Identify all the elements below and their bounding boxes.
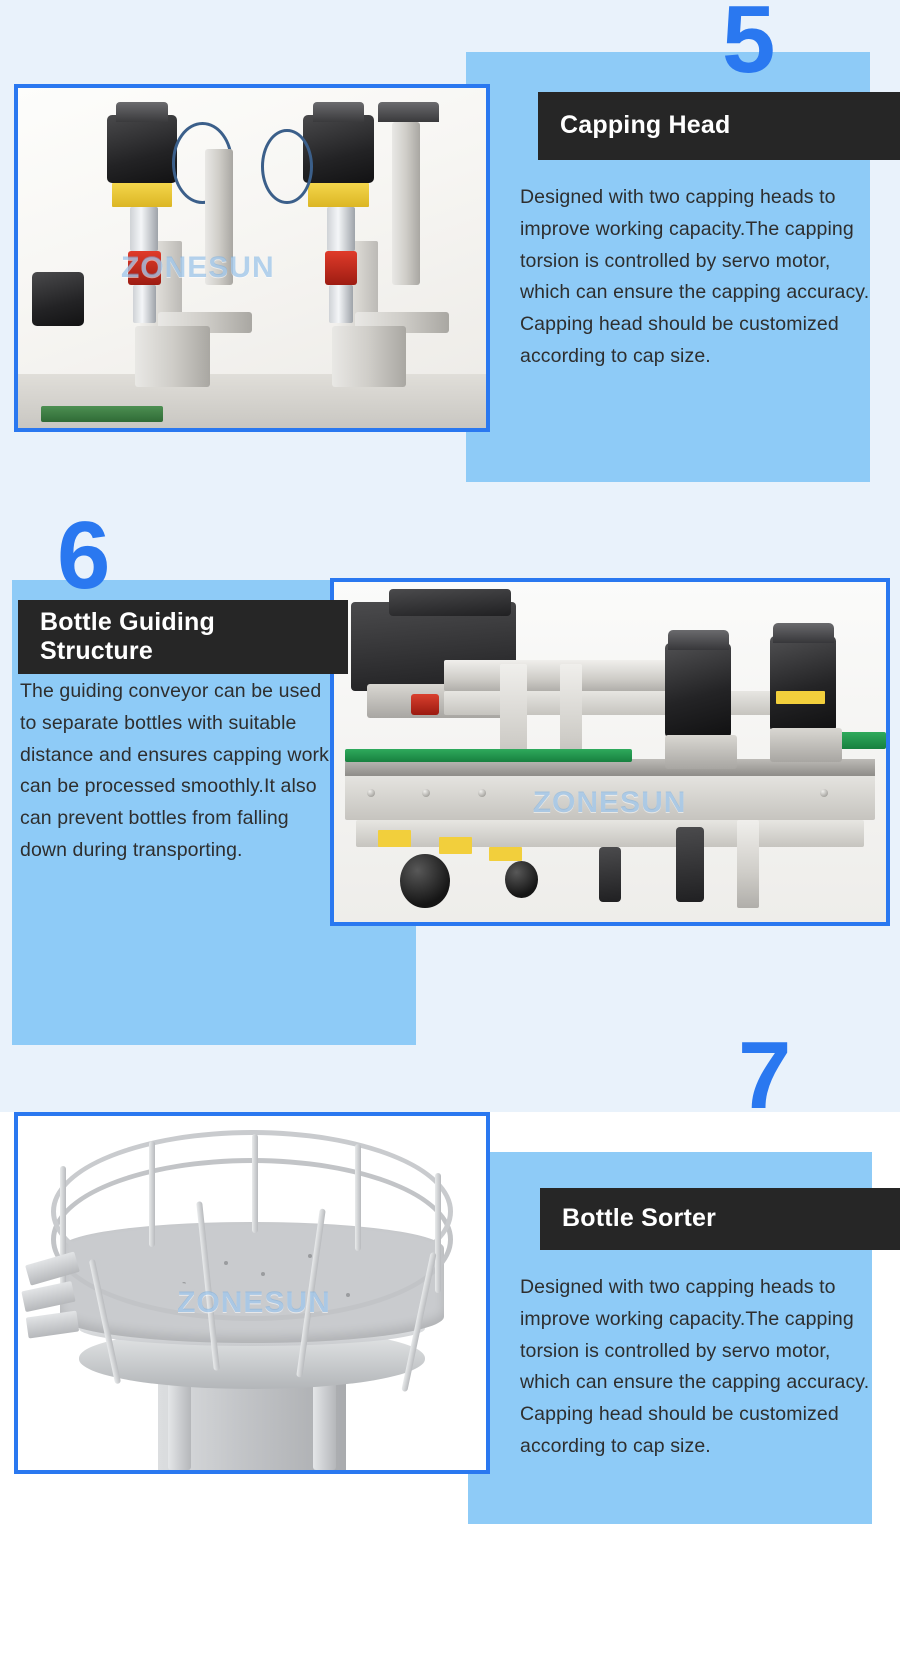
section-5-photo-frame: ZONESUN [14, 84, 490, 432]
section-6-photo-frame: ZONESUN [330, 578, 890, 926]
section-5-header-bar: Capping Head [538, 92, 900, 160]
section-5-number: 5 [722, 0, 775, 88]
bottle-sorter-photo: ZONESUN [18, 1116, 486, 1470]
section-7-header-bar: Bottle Sorter [540, 1188, 900, 1250]
section-5-body: Designed with two capping heads to impro… [520, 182, 872, 373]
section-5-title: Capping Head [538, 111, 752, 141]
section-7-number: 7 [738, 1028, 791, 1124]
capping-head-photo: ZONESUN [18, 88, 486, 428]
section-6-number: 6 [57, 508, 110, 604]
bottle-guiding-structure-photo: ZONESUN [334, 582, 886, 922]
section-7-photo-frame: ZONESUN [14, 1112, 490, 1474]
section-7-title: Bottle Sorter [540, 1204, 738, 1234]
section-6-header-bar: Bottle Guiding Structure [18, 600, 348, 674]
section-7-body: Designed with two capping heads to impro… [520, 1272, 872, 1463]
section-6-title: Bottle Guiding Structure [18, 608, 348, 667]
section-6-body: The guiding conveyor can be used to sepa… [20, 676, 340, 867]
